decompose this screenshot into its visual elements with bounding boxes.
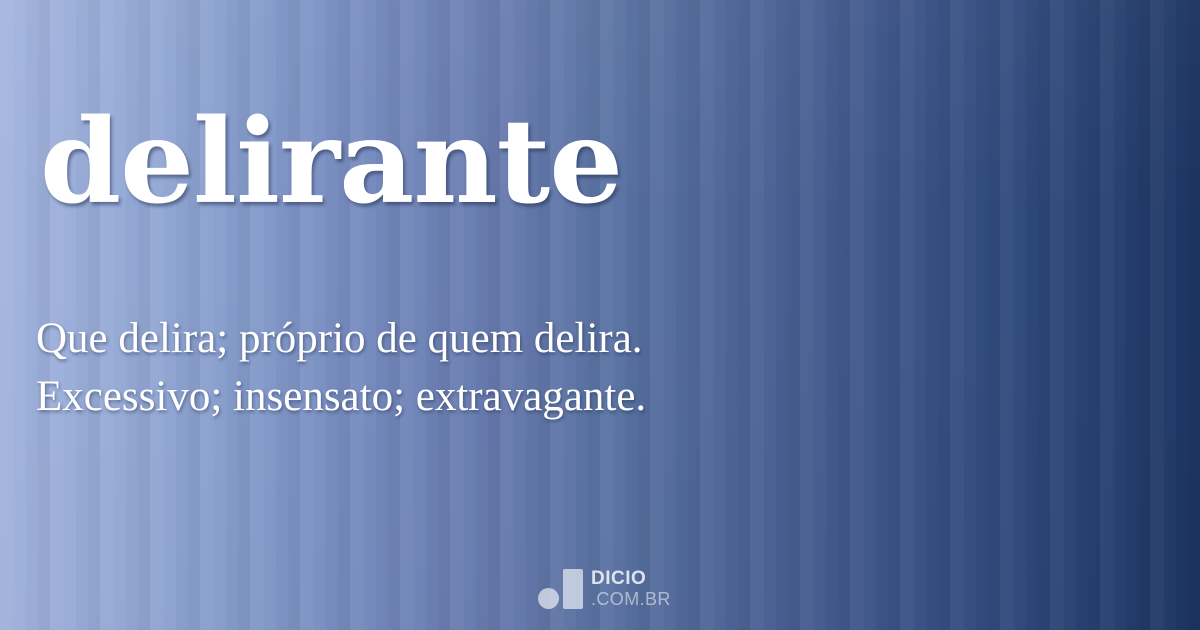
definition-line: Que delira; próprio de quem delira. [36, 310, 1136, 368]
logo-mark-icon [538, 568, 584, 610]
definition-list: Que delira; próprio de quem delira. Exce… [36, 310, 1136, 426]
circle-icon [538, 588, 559, 609]
definition-line: Excessivo; insensato; extravagante. [36, 368, 1136, 426]
page-title: delirante [40, 104, 622, 220]
dicio-logo[interactable]: DICIO .COM.BR [538, 566, 671, 610]
logo-name: DICIO [591, 569, 671, 589]
definition-card: delirante Que delira; próprio de quem de… [0, 0, 1200, 630]
logo-wordmark: DICIO .COM.BR [591, 569, 671, 610]
logo-domain: .COM.BR [591, 589, 671, 609]
bar-icon [563, 569, 583, 609]
